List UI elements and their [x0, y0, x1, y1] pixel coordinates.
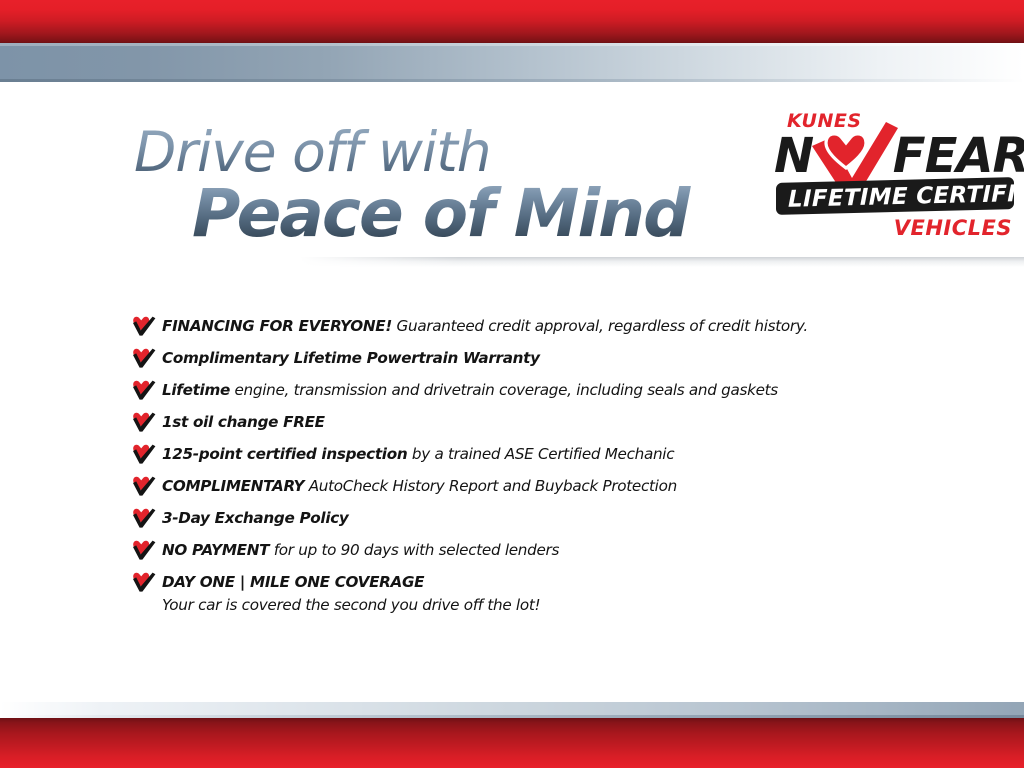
heart-check-icon	[131, 411, 157, 433]
heart-check-icon	[131, 315, 157, 337]
logo-word-fear: FEAR	[893, 128, 1024, 184]
benefit-text: Lifetime engine, transmission and drivet…	[162, 380, 778, 400]
benefit-text-bold: FINANCING FOR EVERYONE!	[162, 317, 392, 335]
benefit-text: 1st oil change FREE	[162, 412, 325, 432]
heart-check-icon	[131, 379, 157, 401]
logo-vehicles-text: VEHICLES	[894, 216, 1012, 240]
benefit-item: 3-Day Exchange Policy	[131, 502, 931, 534]
benefit-text-bold: DAY ONE | MILE ONE COVERAGE	[162, 573, 424, 591]
benefit-text-normal: Guaranteed credit approval, regardless o…	[392, 317, 808, 335]
logo-letter-gap: OO	[813, 128, 893, 184]
promo-page: Drive off with Peace of Mind KUNES NOOFE…	[0, 0, 1024, 768]
logo-nofear-wordmark: NOOFEAR	[774, 128, 1024, 184]
benefit-item: COMPLIMENTARY AutoCheck History Report a…	[131, 470, 931, 502]
heart-check-icon	[131, 571, 157, 593]
heart-check-icon	[131, 443, 157, 465]
benefit-subtext: Your car is covered the second you drive…	[131, 594, 931, 616]
benefit-text-bold: NO PAYMENT	[162, 541, 269, 559]
heart-check-icon	[131, 379, 157, 401]
benefit-text-normal: AutoCheck History Report and Buyback Pro…	[304, 477, 677, 495]
heart-check-icon	[131, 539, 157, 561]
heart-check-icon	[131, 411, 157, 433]
benefit-text: 125-point certified inspection by a trai…	[162, 444, 674, 464]
benefit-item: 1st oil change FREE	[131, 406, 931, 438]
bottom-red-band	[0, 718, 1024, 768]
headline-line-2: Peace of Mind	[192, 178, 754, 250]
benefit-text: DAY ONE | MILE ONE COVERAGE	[162, 572, 424, 592]
benefit-text: FINANCING FOR EVERYONE! Guaranteed credi…	[162, 316, 808, 336]
benefit-text-normal: engine, transmission and drivetrain cove…	[230, 381, 778, 399]
benefit-text-bold: 125-point certified inspection	[162, 445, 407, 463]
heart-check-icon	[131, 347, 157, 369]
benefit-text: NO PAYMENT for up to 90 days with select…	[162, 540, 559, 560]
top-gray-shadow	[0, 79, 1024, 82]
benefit-text: 3-Day Exchange Policy	[162, 508, 349, 528]
logo-banner-text: LIFETIME CERTIFIED	[788, 181, 1008, 212]
heart-check-icon	[131, 475, 157, 497]
benefit-text-bold: Lifetime	[162, 381, 230, 399]
benefits-list: FINANCING FOR EVERYONE! Guaranteed credi…	[131, 310, 931, 616]
benefit-text-normal: by a trained ASE Certified Mechanic	[407, 445, 674, 463]
heart-check-icon	[131, 539, 157, 561]
logo-letter-n: N	[774, 128, 813, 184]
benefit-item: Lifetime engine, transmission and drivet…	[131, 374, 931, 406]
top-gray-band	[0, 43, 1024, 82]
heart-check-icon	[131, 507, 157, 529]
heart-check-icon	[131, 315, 157, 337]
benefit-item: FINANCING FOR EVERYONE! Guaranteed credi…	[131, 310, 931, 342]
heart-check-icon	[131, 347, 157, 369]
benefit-text: Complimentary Lifetime Powertrain Warran…	[162, 348, 540, 368]
headline-block: Drive off with Peace of Mind	[134, 122, 754, 250]
benefit-text-bold: COMPLIMENTARY	[162, 477, 304, 495]
benefit-item: Complimentary Lifetime Powertrain Warran…	[131, 342, 931, 374]
heart-check-icon	[131, 507, 157, 529]
heart-check-icon	[131, 571, 157, 593]
benefit-text: COMPLIMENTARY AutoCheck History Report a…	[162, 476, 677, 496]
heart-check-icon	[131, 443, 157, 465]
top-red-band	[0, 0, 1024, 43]
benefit-text-bold: 3-Day Exchange Policy	[162, 509, 349, 527]
heart-check-icon	[131, 475, 157, 497]
benefit-text-normal: for up to 90 days with selected lenders	[269, 541, 559, 559]
headline-line-1: Drive off with	[134, 122, 754, 182]
benefit-item: 125-point certified inspection by a trai…	[131, 438, 931, 470]
top-gray-highlight	[0, 43, 1024, 46]
benefit-text-bold: 1st oil change FREE	[162, 413, 325, 431]
headline-divider-shadow	[300, 257, 1024, 267]
kunes-no-fear-logo: KUNES NOOFEAR LIFETIME CERTIFIED VEHICLE…	[770, 108, 1018, 248]
benefit-text-bold: Complimentary Lifetime Powertrain Warran…	[162, 349, 540, 367]
benefit-item: NO PAYMENT for up to 90 days with select…	[131, 534, 931, 566]
